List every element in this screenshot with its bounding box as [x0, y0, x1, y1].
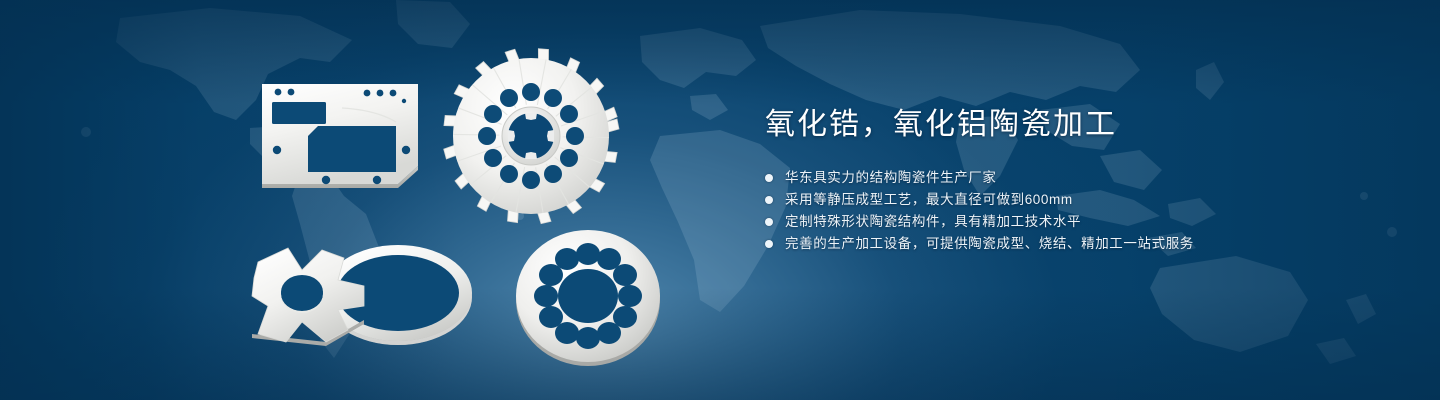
bullet-dot-icon [765, 218, 773, 226]
product-photo-group [0, 0, 760, 400]
bullet-dot-icon [765, 196, 773, 204]
list-item-label: 采用等静压成型工艺，最大直径可做到600mm [785, 192, 1073, 207]
list-item: 完善的生产加工设备，可提供陶瓷成型、烧结、精加工一站式服务 [765, 236, 1405, 251]
list-item: 采用等静压成型工艺，最大直径可做到600mm [765, 192, 1405, 207]
promo-banner: 氧化锆，氧化铝陶瓷加工 华东具实力的结构陶瓷件生产厂家 采用等静压成型工艺，最大… [0, 0, 1440, 400]
feature-bullet-list: 华东具实力的结构陶瓷件生产厂家 采用等静压成型工艺，最大直径可做到600mm 定… [765, 170, 1405, 251]
page-title: 氧化锆，氧化铝陶瓷加工 [765, 104, 1405, 146]
bullet-dot-icon [765, 240, 773, 248]
ceramic-impeller-disc-photo [443, 48, 619, 224]
bullet-dot-icon [765, 174, 773, 182]
list-item: 华东具实力的结构陶瓷件生产厂家 [765, 170, 1405, 185]
list-item-label: 定制特殊形状陶瓷结构件，具有精加工技术水平 [785, 214, 1081, 229]
ceramic-cross-plate-and-ring-photo [246, 218, 506, 368]
ceramic-machined-plate-photo [246, 72, 446, 192]
list-item-label: 完善的生产加工设备，可提供陶瓷成型、烧结、精加工一站式服务 [785, 236, 1194, 251]
banner-copy-block: 氧化锆，氧化铝陶瓷加工 华东具实力的结构陶瓷件生产厂家 采用等静压成型工艺，最大… [765, 104, 1405, 258]
ceramic-perforated-ring-disc-photo [508, 222, 668, 372]
list-item: 定制特殊形状陶瓷结构件，具有精加工技术水平 [765, 214, 1405, 229]
list-item-label: 华东具实力的结构陶瓷件生产厂家 [785, 170, 997, 185]
